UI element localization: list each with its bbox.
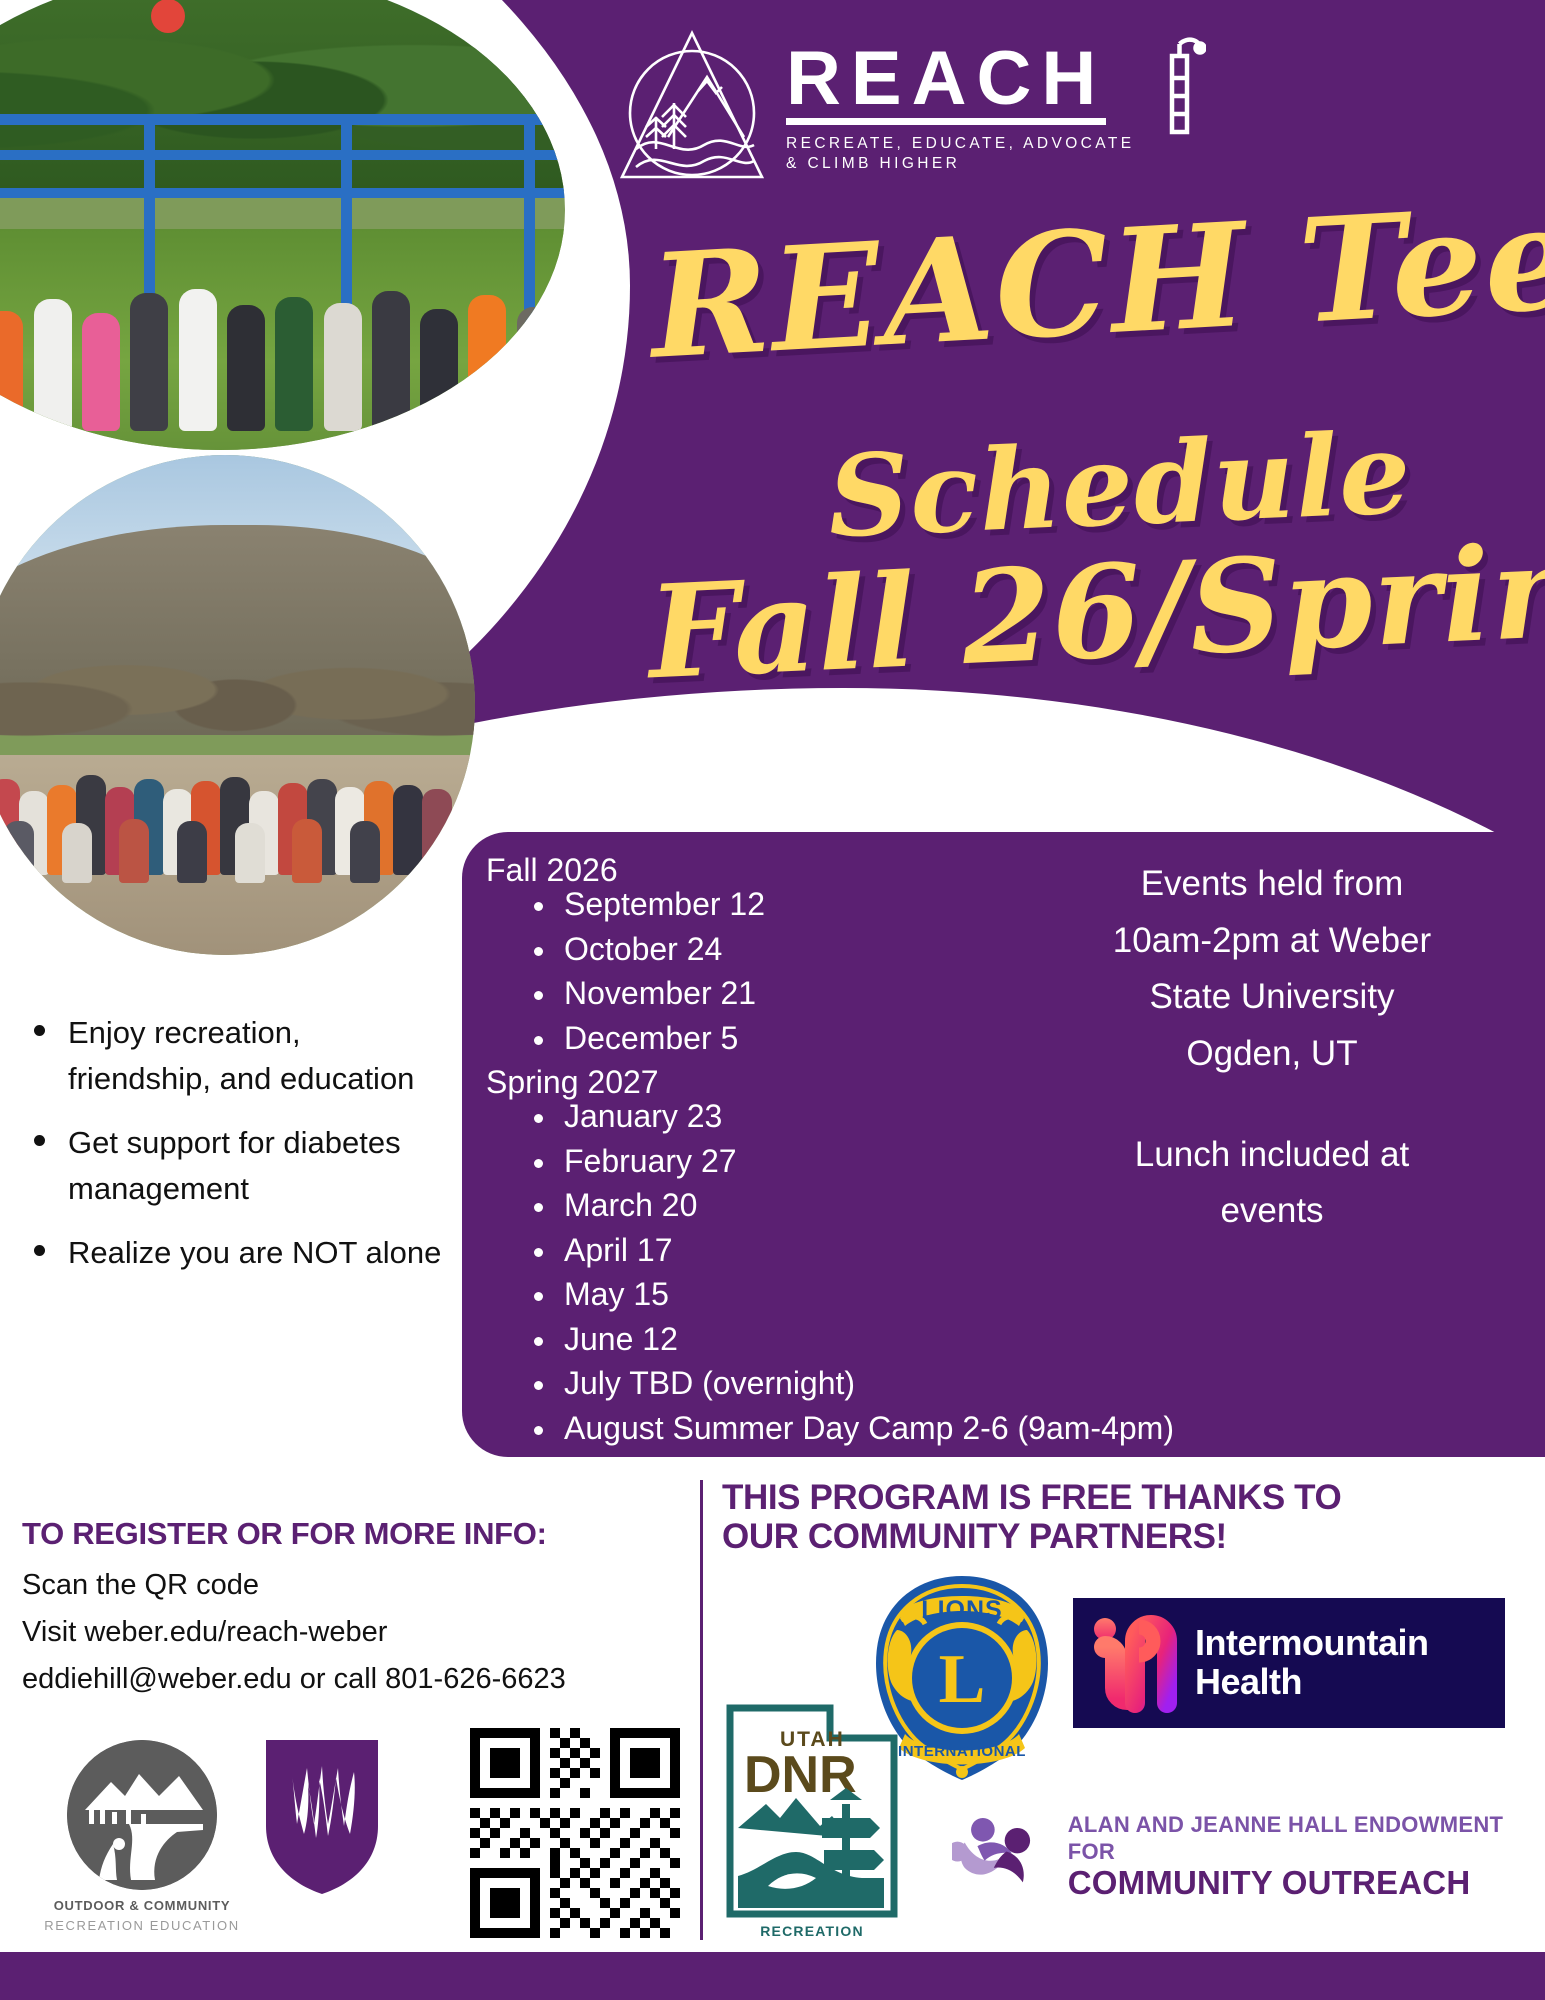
- hero-subtitle: For youth 11-17 years with type 1 diabet…: [900, 728, 1201, 807]
- list-item: July TBD (overnight): [530, 1367, 1006, 1399]
- mountain-tree-triangle-circle-icon: [612, 25, 772, 185]
- ocre-label-line1: OUTDOOR & COMMUNITY: [42, 1896, 242, 1916]
- hero-subtitle-line2: with type 1 diabetes: [900, 768, 1201, 808]
- list-item: December 5: [530, 1022, 1006, 1054]
- lions-international-logo: L LIONS INTERNATIONAL: [855, 1570, 1070, 1785]
- ice-axe-icon: [1150, 34, 1206, 144]
- list-item: May 15: [530, 1278, 1006, 1310]
- photo-teens-outdoor-games: [0, 0, 565, 450]
- intermountain-health-logo: Intermountain Health: [1073, 1598, 1505, 1728]
- schedule-list: Fall 2026 September 12 October 24 Novemb…: [486, 854, 1006, 1456]
- intermountain-line1: Intermountain: [1195, 1624, 1429, 1663]
- season-heading-fall: Fall 2026: [486, 854, 1006, 886]
- register-line-contact[interactable]: eddiehill@weber.edu or call 801-626-6623: [22, 1656, 566, 1703]
- list-item: August Summer Day Camp 2-6 (9am-4pm): [530, 1412, 1006, 1444]
- list-item: January 23: [530, 1100, 1006, 1132]
- list-item: October 24: [530, 933, 1006, 965]
- ocre-label-line2: RECREATION EDUCATION: [42, 1916, 242, 1936]
- lunch-line1: Lunch included at: [1022, 1127, 1522, 1184]
- logo-tagline-line1: RECREATE, EDUCATE, ADVOCATE: [786, 134, 1134, 155]
- partners-heading-line1: THIS PROGRAM IS FREE THANKS TO: [722, 1478, 1522, 1517]
- logo-wordmark: REACH: [786, 44, 1106, 125]
- list-item: November 21: [530, 977, 1006, 1009]
- weber-state-w-shield-logo: [262, 1738, 382, 1896]
- venue-line3: State University: [1022, 969, 1522, 1026]
- people-silhouettes: [0, 162, 565, 431]
- people-circle-icon: [952, 1811, 1054, 1903]
- season-heading-spring: Spring 2027: [486, 1066, 1006, 1098]
- lions-l-letter: L: [939, 1641, 986, 1718]
- reach-logo: REACH RECREATE, EDUCATE, ADVOCATE & CLIM…: [612, 12, 1222, 197]
- mountain-city-hiker-icon: [67, 1740, 217, 1890]
- lions-text: LIONS: [921, 1596, 1002, 1624]
- list-item: April 17: [530, 1234, 1006, 1266]
- international-text: INTERNATIONAL: [898, 1743, 1026, 1760]
- register-details: Scan the QR code Visit weber.edu/reach-w…: [22, 1562, 566, 1703]
- venue-line2: 10am-2pm at Weber: [1022, 913, 1522, 970]
- register-line-qr: Scan the QR code: [22, 1562, 566, 1609]
- register-heading: TO REGISTER OR FOR MORE INFO:: [22, 1516, 547, 1552]
- venue-line1: Events held from: [1022, 856, 1522, 913]
- list-item: March 20: [530, 1189, 1006, 1221]
- vertical-divider: [700, 1480, 703, 1940]
- venue-info: Events held from 10am-2pm at Weber State…: [1022, 856, 1522, 1240]
- partners-heading: THIS PROGRAM IS FREE THANKS TO OUR COMMU…: [722, 1478, 1522, 1556]
- venue-line4: Ogden, UT: [1022, 1026, 1522, 1083]
- list-item: February 27: [530, 1145, 1006, 1177]
- hall-endowment-line2: COMMUNITY OUTREACH: [1068, 1865, 1512, 1902]
- list-item: Enjoy recreation, friendship, and educat…: [20, 1010, 450, 1102]
- fall-dates-list: September 12 October 24 November 21 Dece…: [530, 888, 1006, 1054]
- hero-subtitle-line1: For youth 11-17 years: [900, 728, 1201, 768]
- photo-group-outdoors: [0, 455, 475, 955]
- list-item: June 12: [530, 1323, 1006, 1355]
- list-item: Realize you are NOT alone: [20, 1230, 450, 1276]
- benefits-list: Enjoy recreation, friendship, and educat…: [20, 1010, 450, 1293]
- dnr-recreation-label: RECREATION: [760, 1923, 864, 1939]
- schedule-panel: Fall 2026 September 12 October 24 Novemb…: [462, 832, 1545, 1457]
- lunch-line2: events: [1022, 1183, 1522, 1240]
- alan-jeanne-hall-endowment-logo: ALAN AND JEANNE HALL ENDOWMENT FOR COMMU…: [952, 1802, 1512, 1912]
- intermountain-line2: Health: [1195, 1663, 1429, 1702]
- bottom-purple-bar: [0, 1952, 1545, 2000]
- intermountain-ih-mark: [1089, 1611, 1181, 1715]
- list-item: September 12: [530, 888, 1006, 920]
- qr-code[interactable]: [470, 1728, 680, 1938]
- logo-tagline-line2: & CLIMB HIGHER: [786, 154, 1134, 175]
- list-item: Get support for diabetes management: [20, 1120, 450, 1212]
- partners-heading-line2: OUR COMMUNITY PARTNERS!: [722, 1517, 1522, 1556]
- group-silhouettes: [0, 645, 465, 875]
- outdoor-community-recreation-education-logo: OUTDOOR & COMMUNITY RECREATION EDUCATION: [42, 1740, 242, 1935]
- spring-dates-list: January 23 February 27 March 20 April 17…: [530, 1100, 1006, 1444]
- register-line-website[interactable]: Visit weber.edu/reach-weber: [22, 1609, 566, 1656]
- hall-endowment-line1: ALAN AND JEANNE HALL ENDOWMENT FOR: [1068, 1812, 1512, 1865]
